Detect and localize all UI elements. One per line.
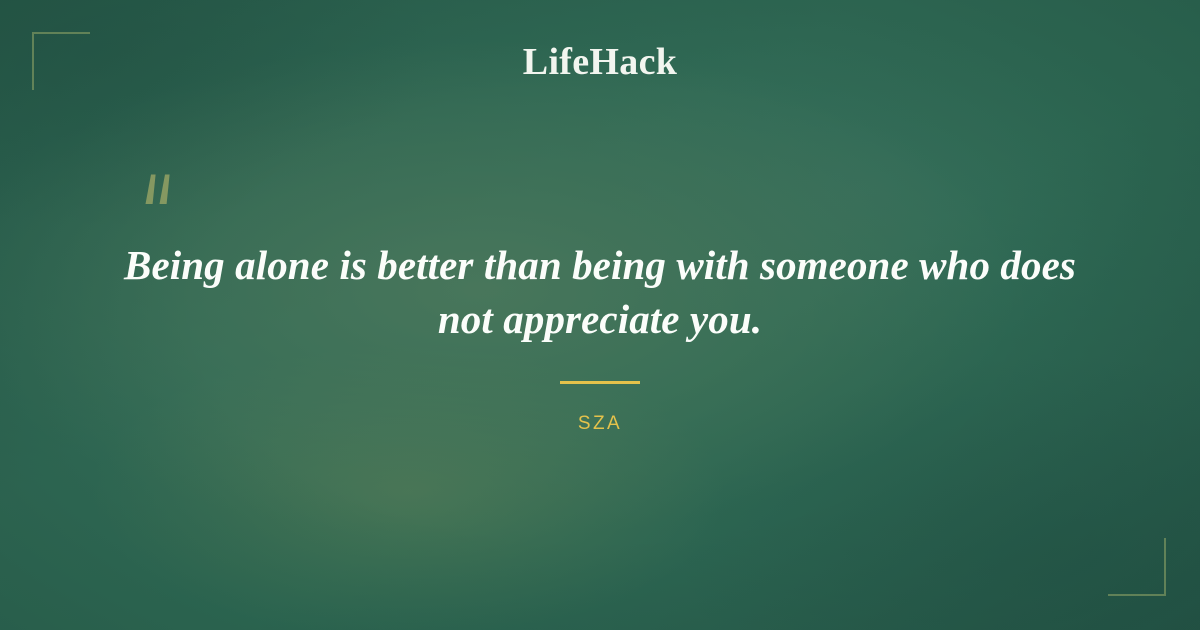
corner-bracket-bottom-right-icon <box>1108 538 1166 596</box>
quote-text: Being alone is better than being with so… <box>100 238 1100 346</box>
double-quote-mark-icon <box>131 158 191 218</box>
quote-block: Being alone is better than being with so… <box>100 238 1100 346</box>
author-divider <box>560 381 640 384</box>
brand-logo: LifeHack <box>0 40 1200 84</box>
quote-card: LifeHack Being alone is better than bein… <box>0 0 1200 630</box>
quote-author: SZA <box>0 413 1200 435</box>
